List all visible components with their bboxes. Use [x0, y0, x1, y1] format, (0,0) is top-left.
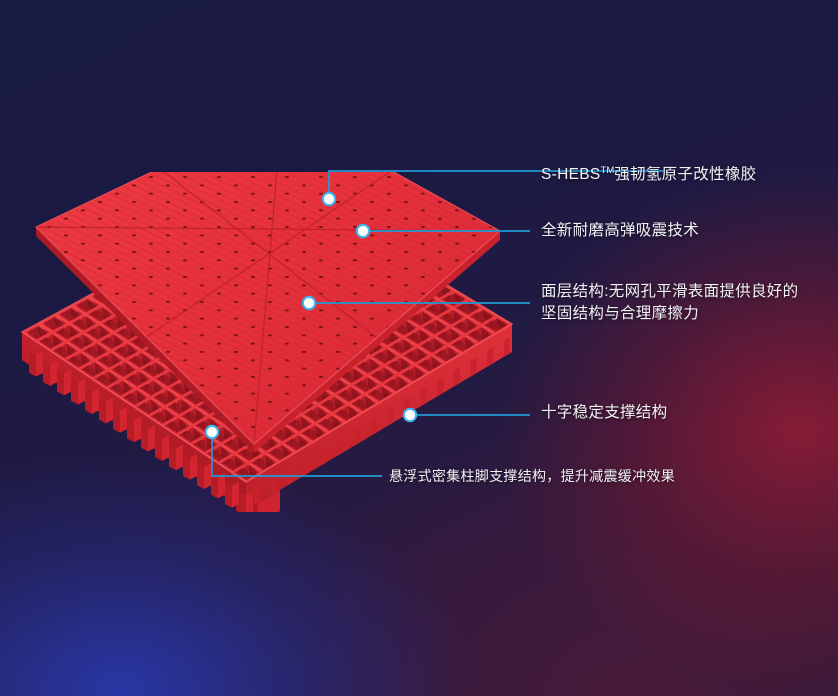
title-block: 悬浮地板 TPES强分子弹性体材料	[0, 520, 838, 650]
leader-line-5	[212, 432, 382, 476]
callout-label-1-superscript: TM	[601, 165, 615, 176]
callout-dot-4	[404, 409, 416, 421]
callout-label-5: 悬浮式密集柱脚支撑结构，提升减震缓冲效果	[389, 466, 675, 486]
callout-label-2: 全新耐磨高弹吸震技术	[541, 220, 699, 242]
poster-canvas: S-HEBSTM强韧氢原子改性橡胶 全新耐磨高弹吸震技术 面层结构:无网孔平滑表…	[0, 0, 838, 696]
callout-label-4: 十字稳定支撑结构	[541, 402, 667, 424]
callout-dot-group	[206, 193, 416, 438]
callout-dot-5	[206, 426, 218, 438]
callout-label-3: 面层结构:无网孔平滑表面提供良好的 坚固结构与合理摩擦力	[541, 281, 831, 325]
callout-label-1-rest: 强韧氢原子改性橡胶	[614, 166, 756, 183]
callout-label-1-main: S-HEBS	[541, 166, 601, 183]
callout-dot-1	[323, 193, 335, 205]
callout-dot-3	[303, 297, 315, 309]
callout-dot-2	[357, 225, 369, 237]
callout-label-1: S-HEBSTM强韧氢原子改性橡胶	[541, 160, 756, 186]
